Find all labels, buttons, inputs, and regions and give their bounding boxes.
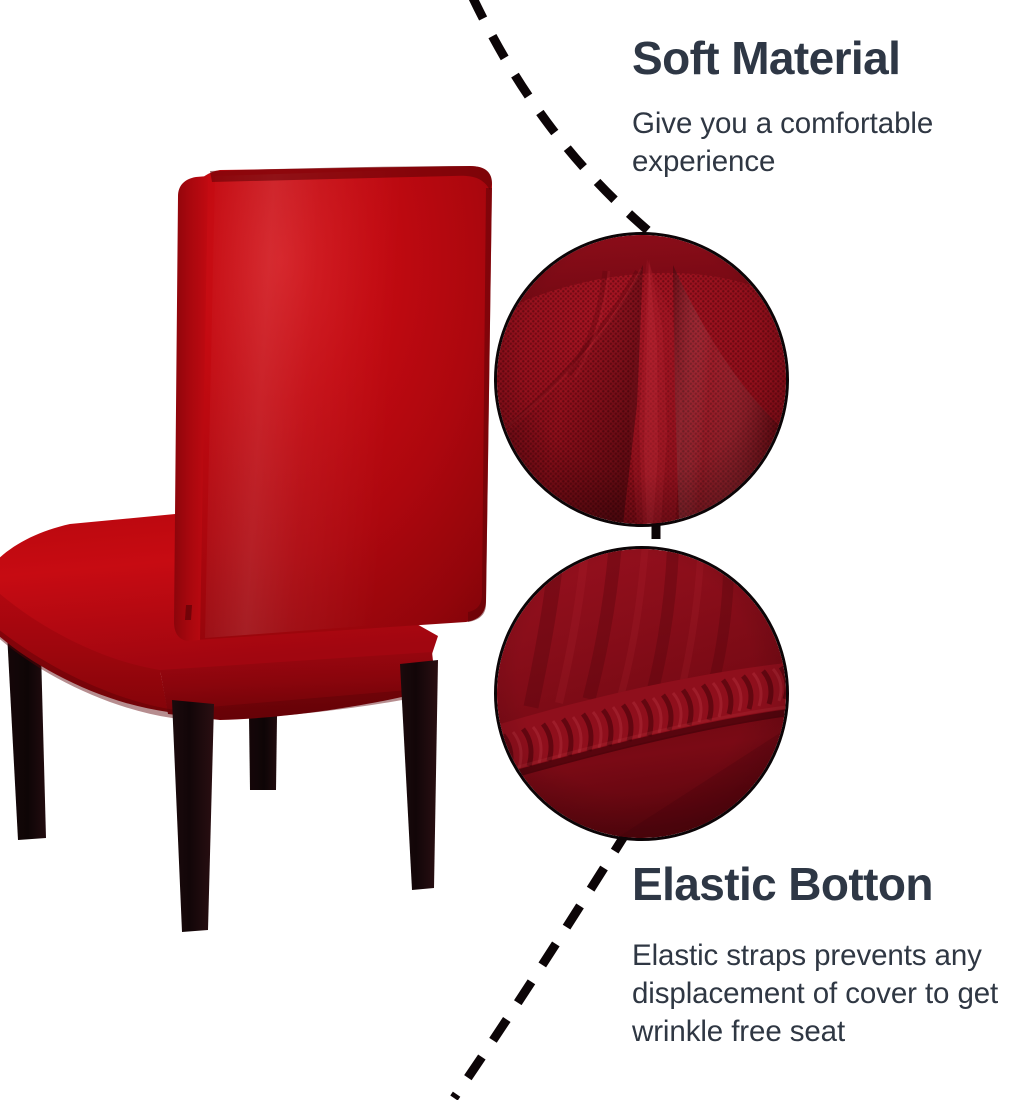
product-feature-infographic: Soft Material Give you a comfortable exp… — [0, 0, 1030, 1100]
feature-heading-soft-material: Soft Material — [632, 34, 1030, 83]
product-photo-red-dining-chair — [0, 0, 520, 1100]
elastic-hem-closeup-icon — [497, 549, 786, 838]
callout-fabric-weave-closeup — [494, 232, 789, 527]
callout-elastic-hem-closeup — [494, 546, 789, 841]
feature-body-soft-material: Give you a comfortable experience — [632, 105, 1030, 182]
feature-body-elastic-botton: Elastic straps prevents any displacement… — [632, 937, 1030, 1052]
feature-block-elastic-botton: Elastic Botton Elastic straps prevents a… — [632, 860, 1030, 1052]
chair-leg-front-left — [172, 700, 214, 932]
chair-backrest-slipcover — [174, 166, 492, 641]
feature-block-soft-material: Soft Material Give you a comfortable exp… — [632, 34, 1030, 181]
chair-leg-front-right — [400, 660, 438, 890]
feature-heading-elastic-botton: Elastic Botton — [632, 860, 1030, 909]
fabric-weave-closeup-icon — [497, 235, 786, 524]
